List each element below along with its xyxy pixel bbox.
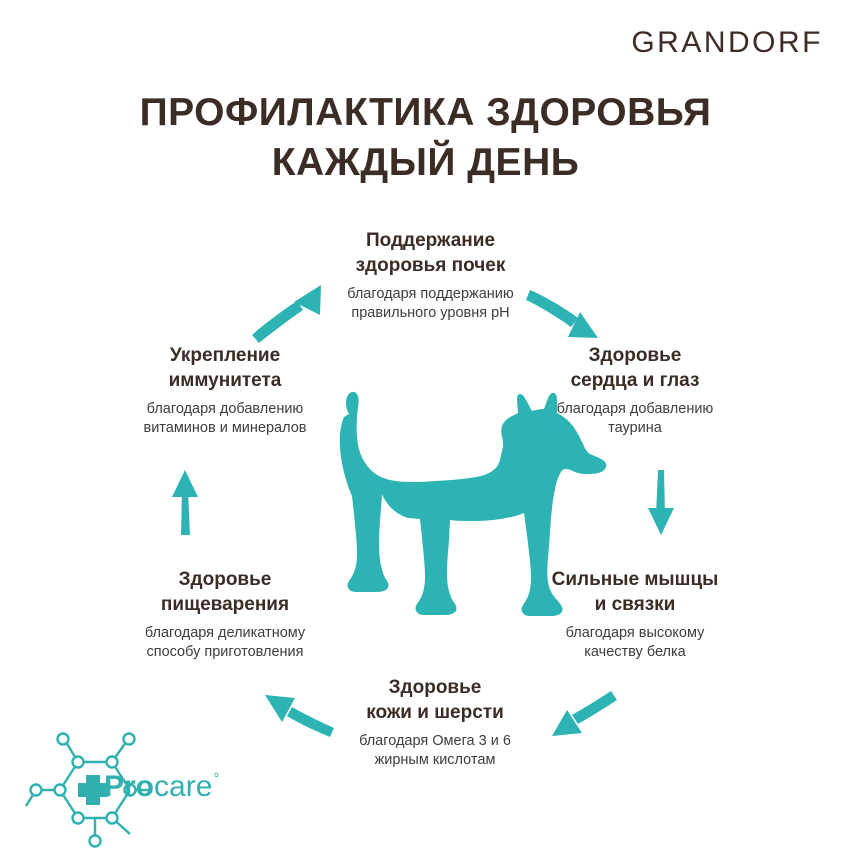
arrow-digest-to-immune: [172, 470, 198, 535]
page-title-line-1: ПРОФИЛАКТИКА ЗДОРОВЬЯ: [140, 91, 712, 134]
node-kidney-title-line-1: Поддержание: [366, 230, 495, 251]
node-skin-title-line-2: кожи и шерсти: [366, 702, 504, 723]
node-immune-title-line-2: иммунитета: [169, 370, 282, 391]
procare-care-text: care: [154, 770, 212, 803]
node-heart-sub-line-2: таурина: [608, 420, 662, 436]
node-skin-and-coat-health: Здоровье кожи и шерсти благодаря Омега 3…: [305, 675, 565, 771]
node-kidney-health: Поддержание здоровья почек благодаря под…: [278, 228, 583, 324]
node-kidney-sub-line-1: благодаря поддержанию: [347, 286, 514, 302]
node-heart-sub-line-1: благодаря добавлению: [557, 401, 714, 417]
page-title-line-2: КАЖДЫЙ ДЕНЬ: [0, 138, 851, 188]
node-heart-title: Здоровье сердца и глаз: [510, 343, 760, 394]
node-muscle-title: Сильные мышцы и связки: [510, 567, 760, 618]
node-heart-subtitle: благодаря добавлению таурина: [510, 400, 760, 439]
page-title: ПРОФИЛАКТИКА ЗДОРОВЬЯ КАЖДЫЙ ДЕНЬ: [0, 88, 851, 188]
node-skin-subtitle: благодаря Омега 3 и 6 жирным кислотам: [305, 732, 565, 771]
node-digestive-health: Здоровье пищеварения благодаря деликатно…: [100, 567, 350, 663]
brand-logo-grandorf: GRANDORF: [631, 26, 823, 60]
node-muscle-title-line-1: Сильные мышцы: [552, 569, 719, 590]
procare-wordmark: Procare°: [104, 772, 218, 802]
node-muscle-subtitle: благодаря высокому качеству белка: [510, 624, 760, 663]
node-immune-subtitle: благодаря добавлению витаминов и минерал…: [100, 400, 350, 439]
node-digest-sub-line-2: способу приготовления: [146, 644, 303, 660]
node-muscle-sub-line-1: благодаря высокому: [566, 625, 705, 641]
procare-pro-text: Pro: [104, 770, 154, 803]
procare-degree-symbol: °: [213, 770, 219, 787]
node-skin-sub-line-1: благодаря Омега 3 и 6: [359, 733, 511, 749]
node-digest-sub-line-1: благодаря деликатному: [145, 625, 305, 641]
node-immunity-strengthening: Укрепление иммунитета благодаря добавлен…: [100, 343, 350, 439]
node-heart-title-line-1: Здоровье: [589, 345, 682, 366]
node-digest-title-line-2: пищеварения: [161, 594, 289, 615]
node-strong-muscles-and-ligaments: Сильные мышцы и связки благодаря высоком…: [510, 567, 760, 663]
node-digest-title-line-1: Здоровье: [179, 569, 272, 590]
node-kidney-title-line-2: здоровья почек: [356, 255, 506, 276]
node-digest-subtitle: благодаря деликатному способу приготовле…: [100, 624, 350, 663]
node-immune-title-line-1: Укрепление: [170, 345, 280, 366]
node-immune-title: Укрепление иммунитета: [100, 343, 350, 394]
node-muscle-title-line-2: и связки: [595, 594, 676, 615]
node-immune-sub-line-1: благодаря добавлению: [147, 401, 304, 417]
node-skin-title: Здоровье кожи и шерсти: [305, 675, 565, 726]
node-muscle-sub-line-2: качеству белка: [584, 644, 686, 660]
node-heart-and-eye-health: Здоровье сердца и глаз благодаря добавле…: [510, 343, 760, 439]
node-kidney-title: Поддержание здоровья почек: [278, 228, 583, 279]
node-heart-title-line-2: сердца и глаз: [571, 370, 700, 391]
node-kidney-sub-line-2: правильного уровня pH: [351, 305, 509, 321]
infographic-page: GRANDORF ПРОФИЛАКТИКА ЗДОРОВЬЯ КАЖДЫЙ ДЕ…: [0, 0, 851, 860]
node-skin-sub-line-2: жирным кислотам: [375, 752, 496, 768]
node-kidney-subtitle: благодаря поддержанию правильного уровня…: [278, 285, 583, 324]
node-digest-title: Здоровье пищеварения: [100, 567, 350, 618]
node-skin-title-line-1: Здоровье: [389, 677, 482, 698]
arrow-heart-to-muscle: [648, 470, 674, 535]
node-immune-sub-line-2: витаминов и минералов: [143, 420, 306, 436]
